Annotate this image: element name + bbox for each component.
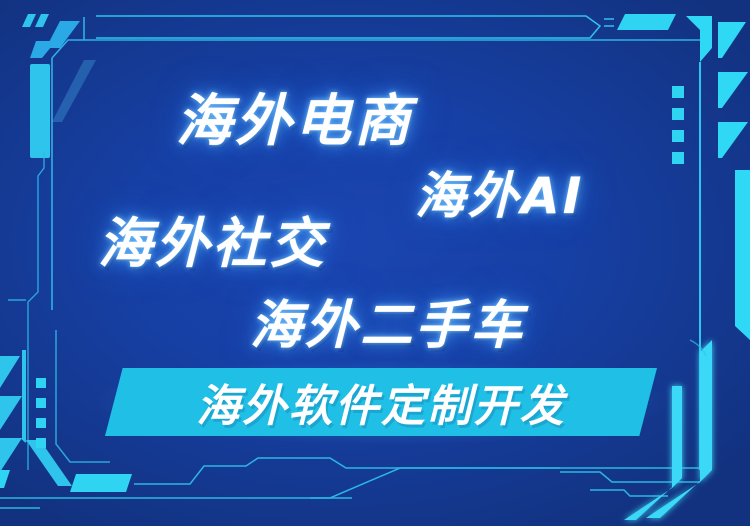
promo-banner: 海外电商 海外AI 海外社交 海外二手车 海外软件定制开发: [0, 0, 750, 526]
cta-banner[interactable]: 海外软件定制开发: [105, 368, 657, 436]
headline-used-car: 海外二手车: [250, 283, 526, 358]
headline-social: 海外社交: [98, 199, 327, 278]
headline-ecommerce: 海外电商: [176, 76, 413, 157]
headline-ai: 海外AI: [415, 156, 584, 228]
headline-stack: 海外电商 海外AI 海外社交 海外二手车: [0, 0, 750, 526]
cta-label: 海外软件定制开发: [105, 368, 657, 436]
